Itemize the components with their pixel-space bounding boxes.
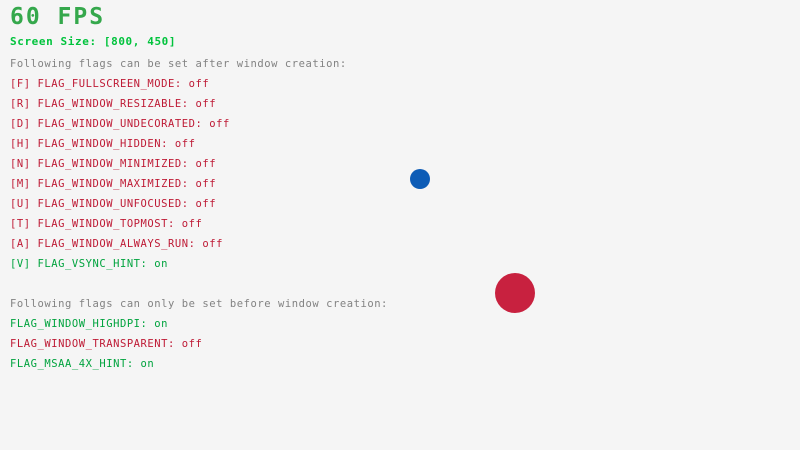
flag-toggle-flag-vsync-hint[interactable]: [V] FLAG_VSYNC_HINT: on [10,259,168,270]
flag-toggle-flag-window-resizable[interactable]: [R] FLAG_WINDOW_RESIZABLE: off [10,99,216,110]
section-header-before-creation: Following flags can only be set before w… [10,299,388,310]
fps-counter: 60 FPS [10,6,105,29]
flag-toggle-flag-window-topmost[interactable]: [T] FLAG_WINDOW_TOPMOST: off [10,219,202,230]
screen-size-label: Screen Size: [800, 450] [10,36,176,47]
flag-status-flag-msaa-4x-hint[interactable]: FLAG_MSAA_4X_HINT: on [10,359,154,370]
flag-toggle-flag-window-undecorated[interactable]: [D] FLAG_WINDOW_UNDECORATED: off [10,119,230,130]
flag-toggle-flag-window-always-run[interactable]: [A] FLAG_WINDOW_ALWAYS_RUN: off [10,239,223,250]
flag-toggle-flag-window-hidden[interactable]: [H] FLAG_WINDOW_HIDDEN: off [10,139,196,150]
ball-red [495,273,535,313]
flag-toggle-flag-fullscreen-mode[interactable]: [F] FLAG_FULLSCREEN_MODE: off [10,79,209,90]
flag-toggle-flag-window-unfocused[interactable]: [U] FLAG_WINDOW_UNFOCUSED: off [10,199,216,210]
flag-toggle-flag-window-maximized[interactable]: [M] FLAG_WINDOW_MAXIMIZED: off [10,179,216,190]
flag-toggle-flag-window-minimized[interactable]: [N] FLAG_WINDOW_MINIMIZED: off [10,159,216,170]
section-header-after-creation: Following flags can be set after window … [10,59,347,70]
flag-status-flag-window-transparent[interactable]: FLAG_WINDOW_TRANSPARENT: off [10,339,202,350]
game-canvas[interactable]: 60 FPS Screen Size: [800, 450] Following… [0,0,800,450]
flag-status-flag-window-highdpi[interactable]: FLAG_WINDOW_HIGHDPI: on [10,319,168,330]
ball-blue [410,169,430,189]
